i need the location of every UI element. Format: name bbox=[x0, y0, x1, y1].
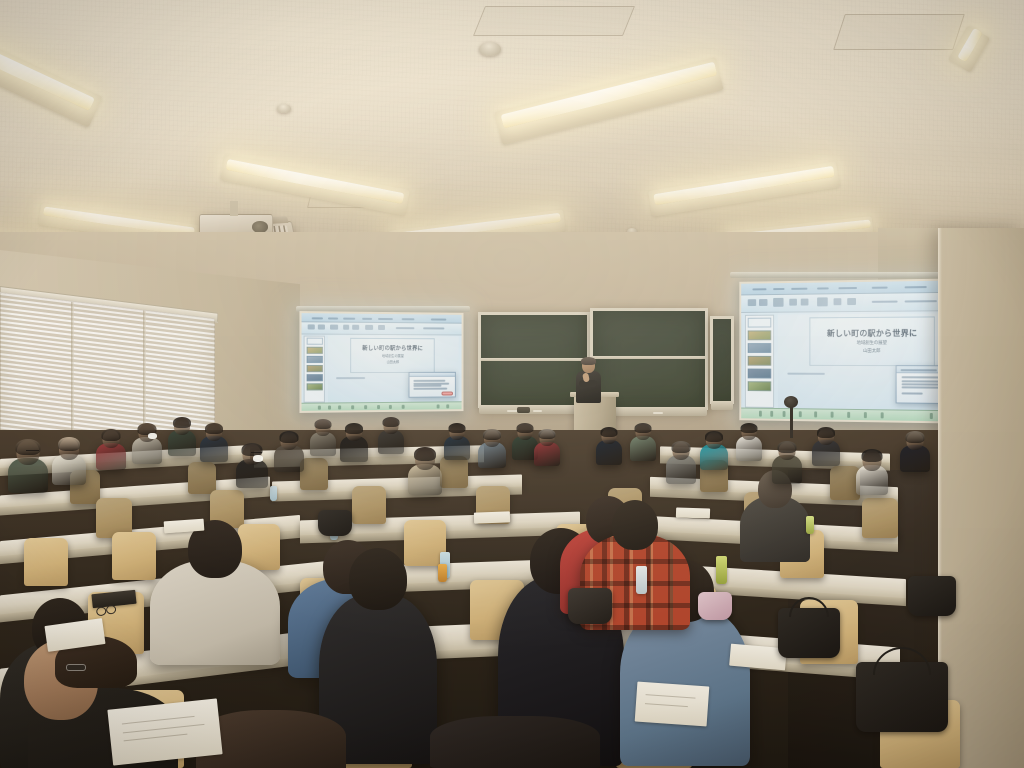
ppt-slide-canvas[interactable]: 新しい町の駅から世界に 地域創生の展望 山田太郎 bbox=[328, 336, 459, 403]
audience-member bbox=[666, 442, 696, 488]
eyeglasses bbox=[251, 452, 262, 455]
person-head bbox=[349, 548, 407, 610]
microphone-stand bbox=[790, 404, 793, 438]
audience-member bbox=[772, 442, 802, 488]
handout-paper[interactable] bbox=[474, 511, 510, 523]
audience-member bbox=[630, 424, 656, 464]
person-hair bbox=[741, 423, 758, 433]
backpack-on-floor[interactable] bbox=[856, 662, 948, 732]
smoke-detector bbox=[479, 42, 501, 56]
backpack-on-floor[interactable] bbox=[778, 608, 840, 658]
ppt-notes-placeholder bbox=[787, 372, 825, 374]
audience-member bbox=[900, 432, 930, 476]
presenter-hair bbox=[581, 357, 596, 365]
wooden-chair[interactable] bbox=[188, 462, 216, 494]
slide-subtitle-line1: 地域創生の展望 bbox=[382, 354, 404, 359]
audience-member bbox=[408, 448, 442, 498]
person-hair bbox=[173, 417, 191, 428]
handbag[interactable] bbox=[698, 592, 732, 620]
audience-member bbox=[96, 430, 126, 474]
person-hair bbox=[483, 429, 501, 440]
blind-mullion bbox=[71, 302, 74, 450]
wooden-chair[interactable] bbox=[352, 486, 386, 524]
audience-member bbox=[236, 444, 268, 490]
dialog-title-bar bbox=[409, 373, 455, 377]
slide-subtitle-line1: 地域創生の展望 bbox=[857, 340, 887, 346]
person-hair bbox=[539, 429, 556, 439]
current-slide[interactable]: 新しい町の駅から世界に 地域創生の展望 山田太郎 bbox=[810, 316, 935, 366]
drink-bottle[interactable] bbox=[806, 516, 814, 534]
face-mask bbox=[253, 455, 263, 462]
chalkboard-divider bbox=[481, 358, 587, 361]
person-hair bbox=[862, 449, 883, 462]
chalk-stick[interactable] bbox=[653, 412, 663, 415]
person-torso bbox=[430, 716, 600, 768]
slide-thumbnail[interactable] bbox=[748, 317, 771, 327]
chalkboard-divider bbox=[593, 356, 705, 359]
audience-member bbox=[132, 424, 162, 468]
backpack-on-floor[interactable] bbox=[318, 510, 352, 536]
slide-title-text: 新しい町の駅から世界に bbox=[827, 328, 917, 338]
slide-subtitle-line2: 山田太郎 bbox=[863, 348, 880, 354]
person-hair bbox=[672, 441, 691, 453]
chalk-stick[interactable] bbox=[533, 410, 542, 413]
hair-clip-icon bbox=[66, 664, 86, 671]
slide-title-text: 新しい町の駅から世界に bbox=[362, 346, 423, 353]
slide-subtitle-line2: 山田太郎 bbox=[387, 360, 400, 365]
audience-member bbox=[478, 430, 506, 472]
drink-bottle[interactable] bbox=[270, 486, 277, 501]
structural-column bbox=[938, 228, 1024, 768]
slide-thumbnail[interactable] bbox=[748, 381, 771, 391]
drink-bottle[interactable] bbox=[636, 566, 647, 594]
audience-member bbox=[378, 418, 404, 456]
presenter-at-podium bbox=[575, 358, 601, 402]
audience-member bbox=[856, 450, 888, 498]
ppt-ribbon-toolbar[interactable] bbox=[302, 322, 462, 336]
eyeglasses bbox=[26, 450, 39, 453]
person-hair bbox=[517, 423, 534, 433]
dialog-ok-button[interactable] bbox=[441, 391, 453, 395]
handout-paper[interactable] bbox=[676, 507, 710, 518]
ppt-notes-placeholder bbox=[336, 377, 365, 379]
person-hair bbox=[906, 431, 925, 443]
chalk-tray bbox=[711, 401, 733, 410]
backpack-on-floor[interactable] bbox=[908, 576, 956, 616]
audience-member bbox=[812, 428, 840, 470]
person-hair bbox=[449, 423, 466, 433]
face-mask bbox=[148, 433, 157, 439]
smoke-detector bbox=[277, 104, 291, 113]
slide-thumbnail[interactable] bbox=[307, 384, 323, 391]
green-chalkboard bbox=[710, 316, 734, 404]
lecture-hall-photo: 新しい町の駅から世界に 地域創生の展望 山田太郎 bbox=[0, 0, 1024, 768]
slide-thumbnail[interactable] bbox=[307, 347, 323, 354]
person-hair bbox=[102, 429, 121, 441]
powerpoint-window-left[interactable]: 新しい町の駅から世界に 地域創生の展望 山田太郎 bbox=[302, 313, 462, 411]
slide-thumbnail[interactable] bbox=[748, 356, 771, 366]
person-hair bbox=[280, 431, 299, 443]
audience-member bbox=[736, 424, 762, 464]
person-hair bbox=[205, 423, 223, 434]
ppt-status-bar bbox=[302, 402, 462, 411]
handout-paper[interactable] bbox=[107, 698, 222, 765]
slide-thumbnail[interactable] bbox=[307, 374, 323, 381]
audience-member bbox=[444, 424, 470, 462]
person-hair bbox=[345, 423, 363, 434]
slide-thumbnail[interactable] bbox=[307, 356, 323, 363]
person-hair bbox=[817, 427, 835, 438]
person-hair bbox=[601, 427, 618, 437]
ceiling-access-panel bbox=[833, 14, 965, 50]
audience-member bbox=[52, 438, 86, 488]
audience-member-foreground bbox=[430, 716, 600, 768]
ppt-slide-thumbnail-pane[interactable] bbox=[304, 336, 325, 403]
audience-member bbox=[700, 432, 728, 474]
person-hair bbox=[315, 419, 332, 429]
microphone-head-icon bbox=[784, 396, 798, 408]
person-head bbox=[612, 500, 658, 550]
handbag[interactable] bbox=[568, 588, 612, 624]
person-hair bbox=[778, 441, 797, 453]
audience-member bbox=[274, 432, 304, 476]
drink-bottle[interactable] bbox=[716, 556, 727, 584]
drink-bottle[interactable] bbox=[438, 564, 447, 582]
ceiling-access-panel bbox=[473, 6, 635, 36]
audience-member bbox=[8, 440, 48, 496]
audience-member bbox=[596, 428, 622, 468]
ppt-dialog-box[interactable] bbox=[408, 372, 455, 398]
person-hair bbox=[383, 417, 400, 427]
person-hair bbox=[635, 423, 652, 433]
slide-thumbnail[interactable] bbox=[748, 343, 771, 353]
audience-member bbox=[200, 424, 228, 466]
slide-thumbnail[interactable] bbox=[307, 338, 323, 345]
wooden-chair[interactable] bbox=[862, 498, 898, 538]
slide-thumbnail[interactable] bbox=[748, 368, 771, 378]
slide-thumbnail[interactable] bbox=[307, 365, 323, 372]
audience-member bbox=[534, 430, 560, 468]
wooden-chair[interactable] bbox=[24, 538, 68, 586]
audience-member bbox=[168, 418, 196, 460]
audience-member bbox=[310, 420, 336, 458]
person-hair bbox=[705, 431, 723, 442]
audience-member bbox=[340, 424, 368, 466]
handout-paper[interactable] bbox=[635, 682, 710, 727]
person-hair bbox=[58, 437, 80, 451]
current-slide[interactable]: 新しい町の駅から世界に 地域創生の展望 山田太郎 bbox=[351, 338, 435, 373]
left-projection-screen[interactable]: 新しい町の駅から世界に 地域創生の展望 山田太郎 bbox=[299, 311, 463, 413]
ppt-slide-thumbnail-pane[interactable] bbox=[745, 314, 775, 408]
slide-thumbnail[interactable] bbox=[748, 330, 771, 340]
wooden-chair[interactable] bbox=[300, 458, 328, 490]
chalkboard-eraser[interactable] bbox=[517, 407, 530, 413]
person-hair bbox=[414, 447, 436, 461]
